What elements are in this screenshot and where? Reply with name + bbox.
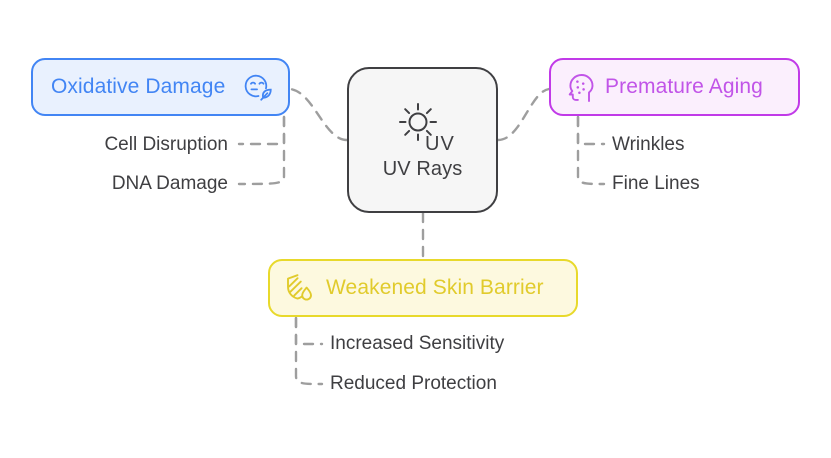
sub-item-wrinkles[interactable]: Wrinkles (612, 134, 685, 156)
node-label-uv-rays: UV Rays (383, 158, 463, 181)
mindmap-canvas: UV UV Rays Oxidative Damage Cell Disrupt… (0, 0, 831, 458)
node-label-premature-aging: Premature Aging (605, 75, 763, 99)
face-leaf-icon (242, 72, 274, 102)
sub-item-cell-disruption[interactable]: Cell Disruption (0, 134, 228, 156)
node-premature-aging[interactable]: Premature Aging (549, 58, 800, 116)
connector-oxidative-to-dna-damage (239, 117, 284, 184)
head-spots-icon (565, 71, 595, 103)
node-oxidative-damage[interactable]: Oxidative Damage (31, 58, 290, 116)
connector-oxidative-to-cell-disruption (239, 117, 284, 144)
sun-uv-icon: UV (392, 100, 454, 154)
connector-aging-to-fine-lines (578, 117, 604, 184)
connector-center-to-oxidative (290, 89, 347, 140)
sub-item-dna-damage[interactable]: DNA Damage (0, 173, 228, 195)
node-label-weakened-skin-barrier: Weakened Skin Barrier (326, 276, 544, 300)
connector-barrier-to-increased-sensitivity (296, 318, 322, 344)
connector-aging-to-wrinkles (578, 117, 604, 144)
connector-barrier-to-reduced-protection (296, 318, 322, 384)
sub-item-fine-lines[interactable]: Fine Lines (612, 173, 700, 195)
shield-droplet-icon (284, 272, 316, 304)
node-weakened-skin-barrier[interactable]: Weakened Skin Barrier (268, 259, 578, 317)
sub-item-increased-sensitivity[interactable]: Increased Sensitivity (330, 333, 504, 355)
node-label-oxidative-damage: Oxidative Damage (51, 75, 225, 99)
node-uv-rays[interactable]: UV UV Rays (347, 67, 498, 213)
connector-center-to-aging (498, 89, 549, 140)
sub-item-reduced-protection[interactable]: Reduced Protection (330, 373, 497, 395)
svg-text:UV: UV (425, 133, 454, 154)
